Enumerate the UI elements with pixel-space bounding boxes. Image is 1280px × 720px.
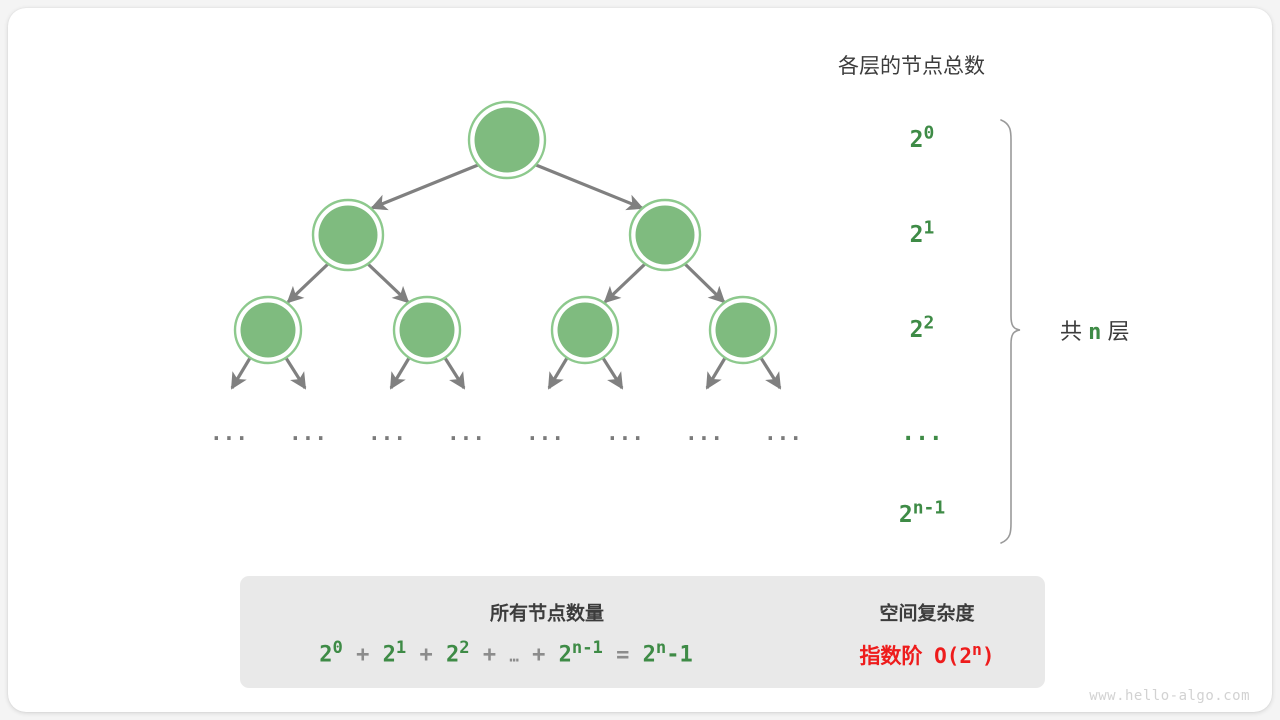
space-complexity-value: 指数阶 O(2n) — [859, 640, 994, 670]
tree-node-level2 — [313, 200, 700, 270]
level-label-1: 21 — [910, 222, 935, 248]
tree-ellipsis: ... — [764, 421, 802, 445]
tree-edges — [232, 165, 780, 388]
level-label-ellipsis: ... — [901, 420, 943, 446]
watermark: www.hello-algo.com — [1089, 688, 1250, 704]
all-nodes-title: 所有节点数量 — [490, 599, 604, 626]
tree-ellipsis: ... — [606, 421, 644, 445]
tree-nodes — [235, 102, 776, 363]
total-levels-label: 共 n 层 — [1060, 314, 1130, 346]
summary-box: 所有节点数量 20 + 21 + 22 + … + 2n-1 = 2n-1 空间… — [240, 576, 1045, 688]
tree-ellipsis: ... — [368, 421, 406, 445]
tree-ellipsis: ... — [526, 421, 564, 445]
level-label-2: 22 — [910, 317, 935, 343]
space-complexity-title: 空间复杂度 — [879, 599, 974, 626]
level-label-last: 2n-1 — [899, 502, 945, 528]
tree-ellipsis: ... — [289, 421, 327, 445]
diagram-canvas: 各层的节点总数 20 21 22 ... 2n-1 共 n 层 ... ... … — [0, 0, 1280, 720]
levels-variable: n — [1088, 320, 1101, 345]
tree-node-root — [469, 102, 545, 178]
tree-ellipsis: ... — [210, 421, 248, 445]
level-brace — [1001, 120, 1020, 543]
tree-ellipsis: ... — [447, 421, 485, 445]
page-title: 各层的节点总数 — [838, 50, 985, 80]
tree-ellipsis: ... — [685, 421, 723, 445]
node-count-formula: 20 + 21 + 22 + … + 2n-1 = 2n-1 — [319, 643, 692, 668]
level-label-0: 20 — [910, 127, 935, 153]
tree-node-level3 — [235, 297, 776, 363]
